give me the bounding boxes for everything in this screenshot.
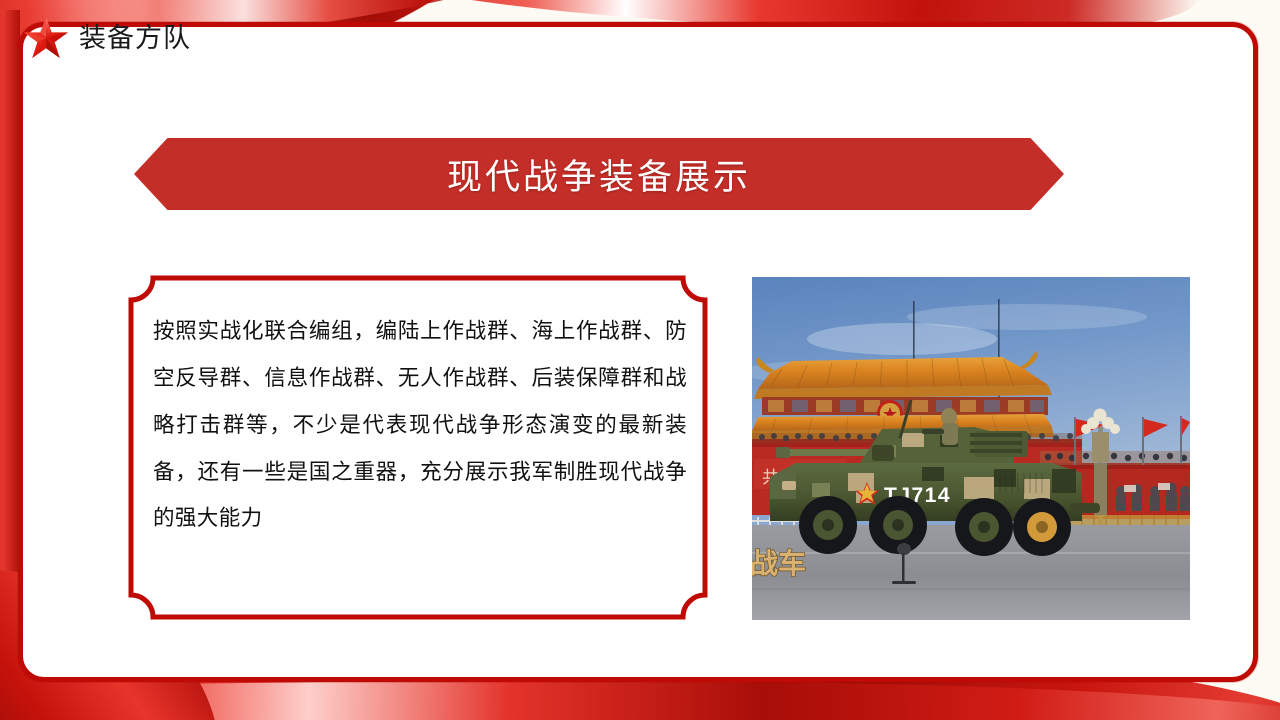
parade-photo: 共 和 国 [752, 277, 1190, 620]
banner-title: 现代战争装备展示 [447, 149, 751, 200]
body-paragraph: 按照实战化联合编组，编陆上作战群、海上作战群、防空反导群、信息作战群、无人作战群… [153, 308, 687, 595]
body-text-frame: 按照实战化联合编组，编陆上作战群、海上作战群、防空反导群、信息作战群、无人作战群… [127, 274, 709, 621]
header-label: 装备方队 [79, 25, 191, 52]
ribbon-left-strip [0, 10, 20, 720]
section-banner: 现代战争装备展示 [134, 138, 1064, 210]
slide-canvas: 装备方队 现代战争装备展示 按照实战化联合编组，编陆上作战群、海上作战群、防空反… [0, 0, 1280, 720]
broadcast-caption-text: 战车 [752, 547, 806, 579]
parade-photo-illustration: 共 和 国 [752, 277, 1190, 620]
broadcast-caption-group: 战车 [752, 547, 806, 579]
five-pointed-star-icon [22, 14, 70, 62]
slide-header: 装备方队 [22, 14, 191, 62]
